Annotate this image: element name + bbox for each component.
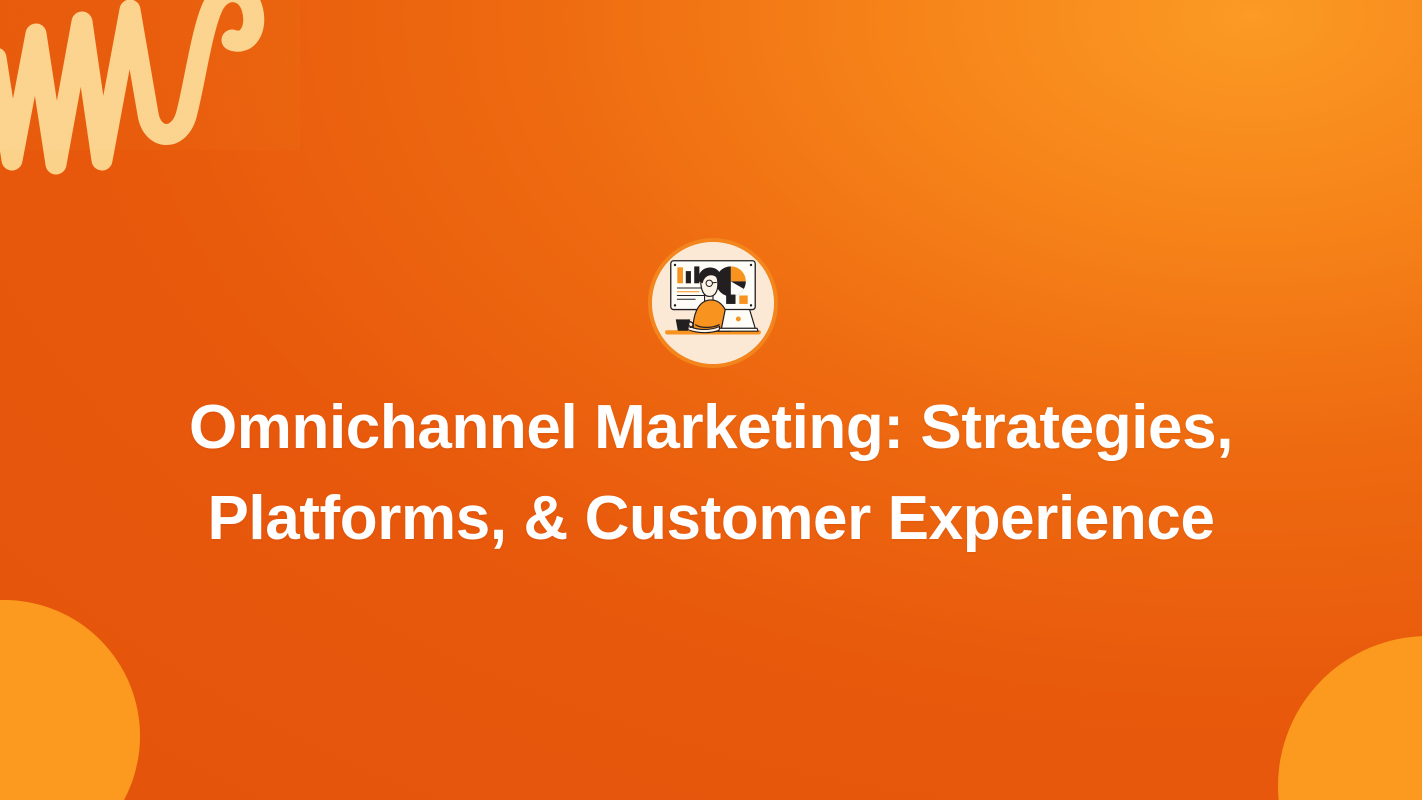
title-line-2: Platforms, & Customer Experience — [60, 473, 1362, 564]
amber-circle-bottom-right — [1278, 636, 1422, 800]
marketing-analyst-illustration — [652, 242, 774, 364]
pie-chart — [716, 266, 746, 296]
avatar — [648, 238, 778, 368]
amber-circle-bottom-left — [0, 600, 140, 800]
title-slide: Omnichannel Marketing: Strategies, Platf… — [0, 0, 1422, 800]
title-line-1: Omnichannel Marketing: Strategies, — [60, 382, 1362, 473]
page-title: Omnichannel Marketing: Strategies, Platf… — [0, 382, 1422, 564]
hand-drawn-zigzag-icon — [0, 0, 292, 184]
